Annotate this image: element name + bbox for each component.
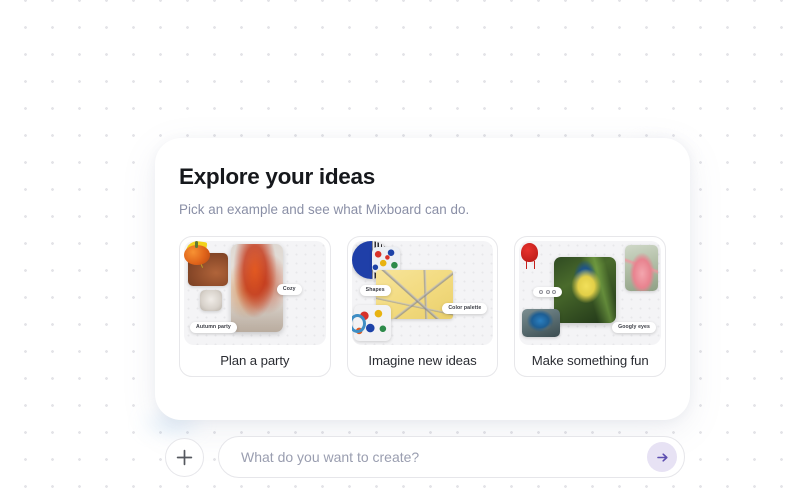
thumbnail-autumn-bouquet — [231, 244, 283, 332]
composer-bar — [165, 436, 685, 478]
prompt-input[interactable] — [241, 449, 647, 465]
example-card-imagine-new-ideas[interactable]: Shapes Color palette Imagine new ideas — [347, 236, 499, 377]
thumbnail-mug — [200, 290, 222, 311]
thumbnail-red-bird — [519, 241, 541, 271]
thumbnail-flamingo — [625, 245, 658, 291]
example-cards-row: Autumn party Cozy Plan a party Shapes Co… — [179, 236, 666, 377]
prompt-field[interactable] — [218, 436, 685, 478]
send-button[interactable] — [647, 442, 677, 472]
collage-make-something-fun: Googly eyes — [519, 241, 661, 345]
example-card-plan-a-party[interactable]: Autumn party Cozy Plan a party — [179, 236, 331, 377]
collage-plan-a-party: Autumn party Cozy — [184, 241, 326, 345]
example-card-make-something-fun[interactable]: Googly eyes Make something fun — [514, 236, 666, 377]
googly-eye-dot — [546, 290, 550, 294]
page-title: Explore your ideas — [179, 165, 666, 190]
add-button[interactable] — [165, 438, 204, 477]
plus-icon — [176, 449, 193, 466]
collage-imagine-new-ideas: Shapes Color palette — [352, 241, 494, 345]
tag-autumn-party: Autumn party — [190, 322, 237, 333]
card-caption: Plan a party — [180, 345, 330, 376]
arrow-right-icon — [655, 450, 670, 465]
tag-googly-eyes: Googly eyes — [612, 322, 656, 333]
tag-googly-eyes-glyphs — [533, 287, 562, 297]
explore-ideas-panel: Explore your ideas Pick an example and s… — [155, 138, 690, 420]
tag-color-palette: Color palette — [442, 303, 487, 314]
thumbnail-colorful-mug — [354, 305, 391, 341]
googly-eye-dot — [552, 290, 556, 294]
tag-cozy: Cozy — [277, 284, 302, 295]
thumbnail-blue-tit-bird — [554, 257, 616, 323]
card-caption: Imagine new ideas — [348, 345, 498, 376]
page-subtitle: Pick an example and see what Mixboard ca… — [179, 202, 666, 217]
tag-shapes: Shapes — [360, 285, 391, 296]
card-caption: Make something fun — [515, 345, 665, 376]
thumbnail-kingfisher — [522, 309, 560, 337]
googly-eye-dot — [539, 290, 543, 294]
